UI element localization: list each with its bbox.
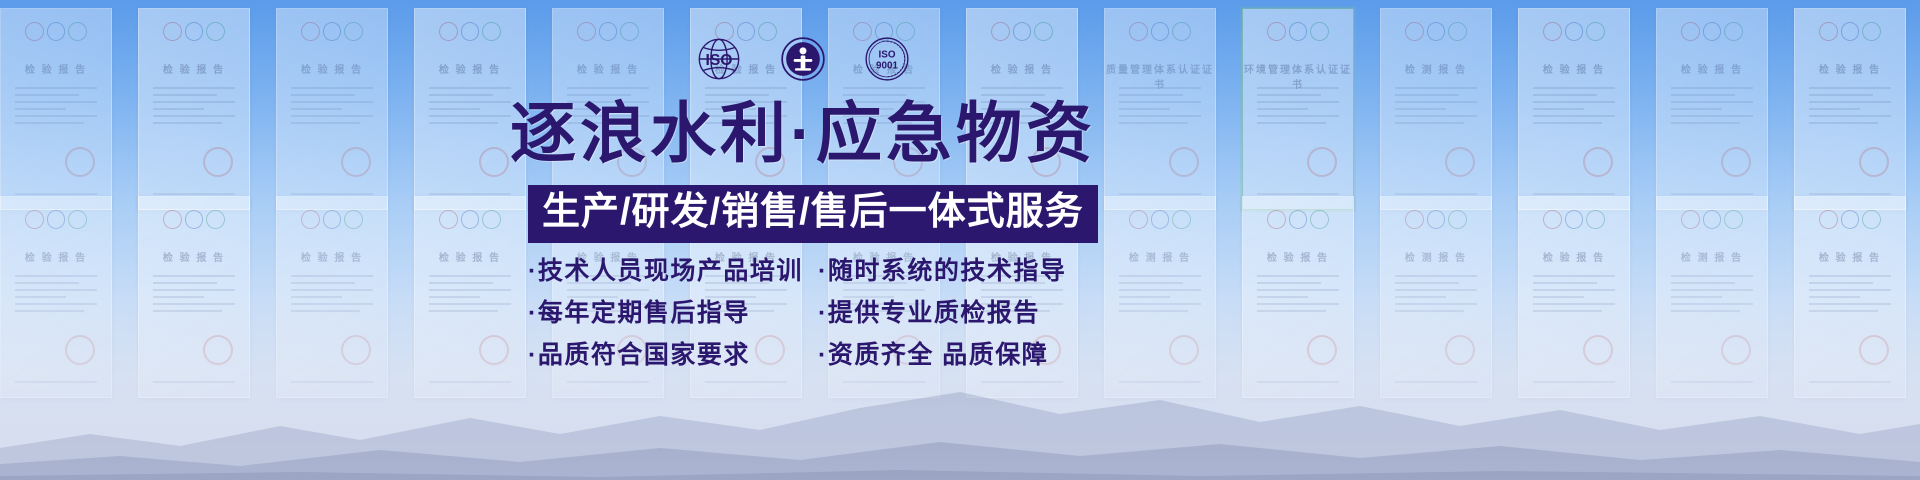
bullet-item-training: ·技术人员现场产品培训 bbox=[528, 251, 818, 287]
bullet-item-qualifications: ·资质齐全 品质保障 bbox=[818, 335, 1068, 371]
bullet-item-annual-service: ·每年定期售后指导 bbox=[528, 293, 818, 329]
bullet-row: ·品质符合国家要求 ·资质齐全 品质保障 bbox=[528, 332, 1068, 374]
bullet-item-national-standard: ·品质符合国家要求 bbox=[528, 335, 818, 371]
banner-subtitle-bar: 生产/研发/销售/售后一体式服务 bbox=[528, 185, 1098, 243]
promo-banner: 检 验 报 告检 验 报 告检 验 报 告检 验 报 告检 验 报 告检 验 报… bbox=[0, 0, 1920, 480]
bullet-row: ·每年定期售后指导 ·提供专业质检报告 bbox=[528, 290, 1068, 332]
banner-content: 逐浪水利·应急物资 生产/研发/销售/售后一体式服务 ·技术人员现场产品培训 ·… bbox=[0, 0, 1920, 480]
bullet-item-guidance: ·随时系统的技术指导 bbox=[818, 251, 1068, 287]
feature-bullet-list: ·技术人员现场产品培训 ·随时系统的技术指导 ·每年定期售后指导 ·提供专业质检… bbox=[528, 248, 1068, 374]
banner-title: 逐浪水利·应急物资 bbox=[510, 100, 1096, 166]
bullet-row: ·技术人员现场产品培训 ·随时系统的技术指导 bbox=[528, 248, 1068, 290]
bullet-item-inspection-report: ·提供专业质检报告 bbox=[818, 293, 1068, 329]
